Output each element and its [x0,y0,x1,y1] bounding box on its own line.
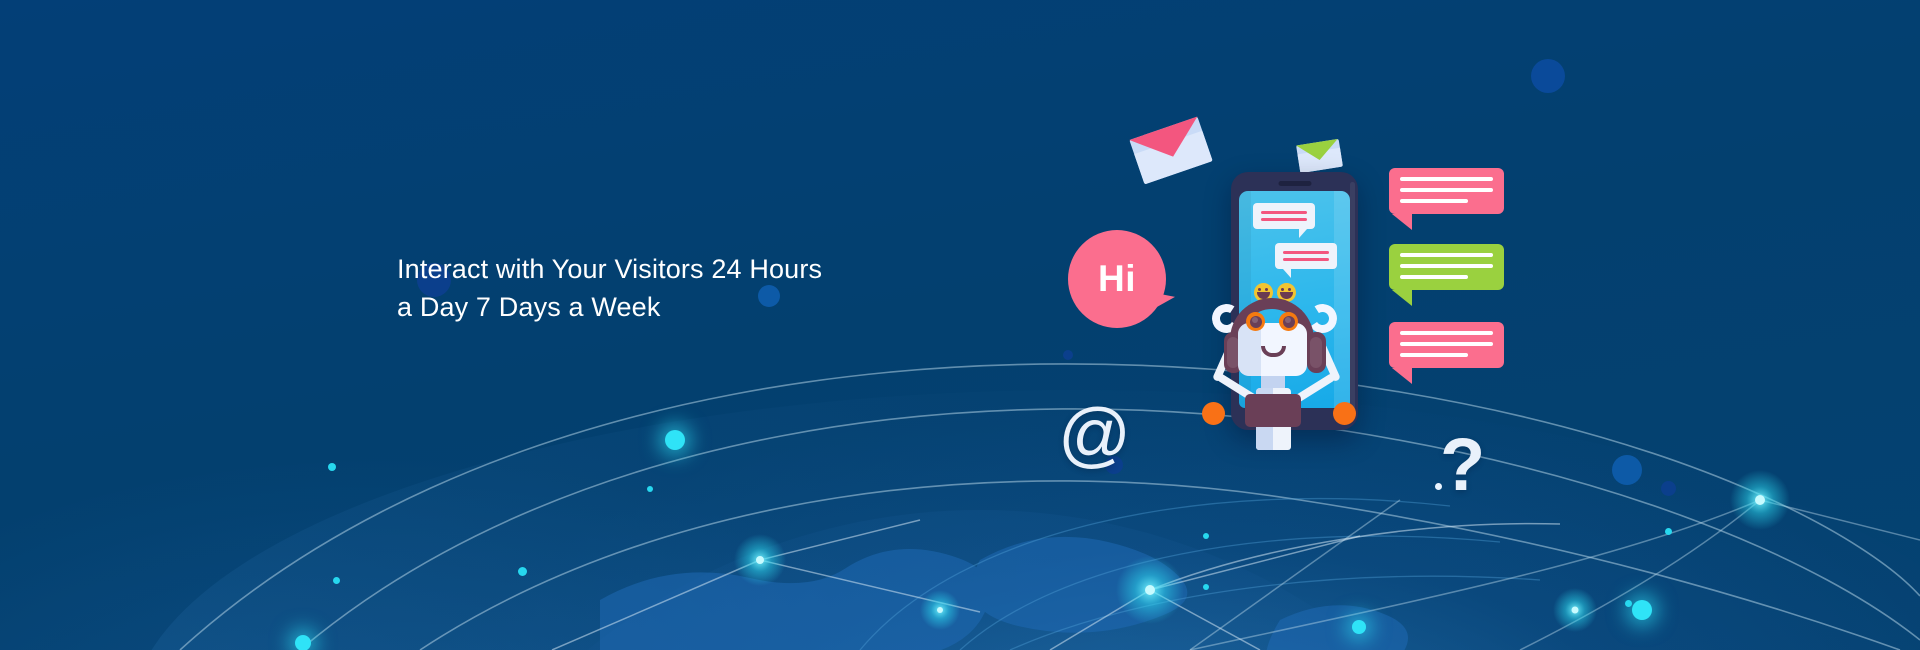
robot-eye-left [1246,312,1265,331]
robot-chest-panel [1245,394,1301,427]
decor-dot-cyan-7 [1665,528,1672,535]
hi-speech-bubble: Hi [1068,230,1166,328]
decor-dot-cyan-2 [1632,600,1652,620]
decor-dot-cyan-6 [333,577,340,584]
robot-eye-right [1279,312,1298,331]
bubble-line [1400,353,1468,357]
robot-pupil [1283,316,1295,328]
phone-speaker-notch [1278,181,1311,186]
chat-bubble-green-middle [1389,244,1504,290]
bubble-tail [1299,229,1307,238]
bubble-line [1261,218,1307,221]
decor-dot-cyan-4 [1625,600,1632,607]
decor-dot-cyan-11 [295,635,311,650]
bubble-line [1283,258,1329,261]
bubble-line [1400,275,1468,279]
headline-line-2: a Day 7 Days a Week [397,288,1037,326]
decor-dot-cyan-12 [1352,620,1366,634]
decor-dot-cyan-1 [665,430,685,450]
envelope-small-icon [1296,139,1343,173]
decor-dot-navy-5 [1661,481,1676,496]
robot-joint-shoulder-right [1333,402,1356,425]
emoji-eye [1258,288,1261,291]
bubble-line [1400,264,1493,268]
page-title: Interact with Your Visitors 24 Hours a D… [397,250,1037,326]
decor-dot-navy-1 [1531,59,1565,93]
emoji-eye [1265,288,1268,291]
bubble-tail [1392,214,1412,230]
robot-joint-shoulder-left [1202,402,1225,425]
bubble-line [1400,331,1493,335]
robot-character [1183,298,1407,458]
decor-dot-cyan-10 [647,486,653,492]
emoji-eye [1281,288,1284,291]
bubble-line [1261,211,1307,214]
bubble-line [1400,342,1493,346]
bubble-line [1400,188,1493,192]
screen-bubble-outgoing [1275,243,1337,269]
chatbot-illustration: Hi @ ? [1040,110,1580,560]
hero-banner: Interact with Your Visitors 24 Hours a D… [0,0,1920,650]
bubble-line [1400,177,1493,181]
robot-headphone-ear-right [1307,332,1326,373]
decor-dot-navy-4 [1612,455,1642,485]
bubble-line [1283,251,1329,254]
screen-bubble-incoming [1253,203,1315,229]
bubble-line [1400,199,1468,203]
at-symbol-icon: @ [1058,399,1131,471]
hi-bubble-text: Hi [1098,260,1136,297]
question-mark-icon: ? [1440,428,1485,502]
emoji-eye [1288,288,1291,291]
bubble-tail [1283,269,1291,278]
robot-pupil [1250,316,1262,328]
decor-dot-cyan-3 [328,463,336,471]
bubble-line [1400,253,1493,257]
decor-dot-cyan-8 [1203,584,1209,590]
chat-bubble-pink-top [1389,168,1504,214]
decor-dot-cyan-5 [518,567,527,576]
headline-line-1: Interact with Your Visitors 24 Hours [397,250,1037,288]
envelope-large-icon [1129,117,1212,185]
